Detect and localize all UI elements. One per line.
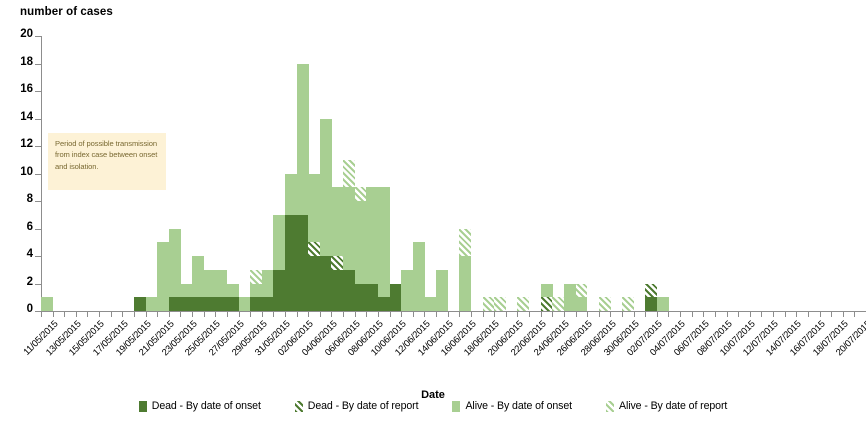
legend-item: Dead - By date of onset — [139, 400, 261, 412]
legend-label: Dead - By date of report — [308, 400, 419, 412]
legend-label: Alive - By date of report — [619, 400, 727, 412]
legend-item: Alive - By date of report — [606, 400, 727, 412]
chart-legend: Dead - By date of onsetDead - By date of… — [0, 400, 866, 412]
legend-label: Dead - By date of onset — [152, 400, 261, 412]
epidemic-curve-chart: number of cases 02468101214161820 Period… — [0, 0, 866, 426]
x-axis-tick-labels: 11/05/201513/05/201515/05/201517/05/2015… — [0, 0, 866, 426]
legend-label: Alive - By date of onset — [465, 400, 572, 412]
legend-swatch-icon — [606, 401, 614, 412]
legend-item: Alive - By date of onset — [452, 400, 572, 412]
legend-swatch-icon — [295, 401, 303, 412]
legend-item: Dead - By date of report — [295, 400, 419, 412]
legend-swatch-icon — [452, 401, 460, 412]
legend-swatch-icon — [139, 401, 147, 412]
